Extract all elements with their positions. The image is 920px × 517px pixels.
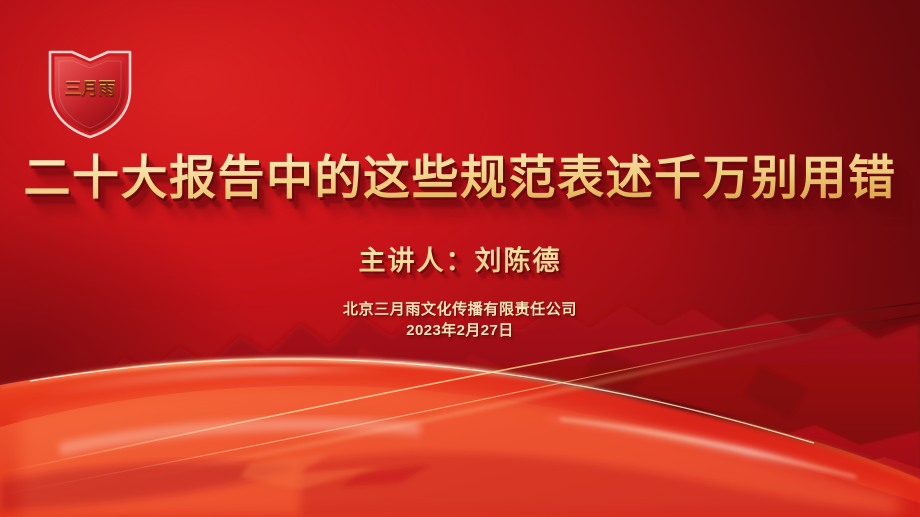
shield-logo[interactable]: 三月雨 (44, 38, 136, 140)
title-slide: 三月雨 二十大报告中的这些规范表述千万别用错 主讲人：刘陈德 北京三月雨文化传播… (0, 0, 920, 517)
presenter-name: 主讲人：刘陈德 (0, 239, 920, 278)
organization-name: 北京三月雨文化传播有限责任公司 (0, 298, 920, 319)
page-title: 二十大报告中的这些规范表述千万别用错 (0, 152, 920, 205)
presentation-date: 2023年2月27日 (0, 319, 920, 340)
